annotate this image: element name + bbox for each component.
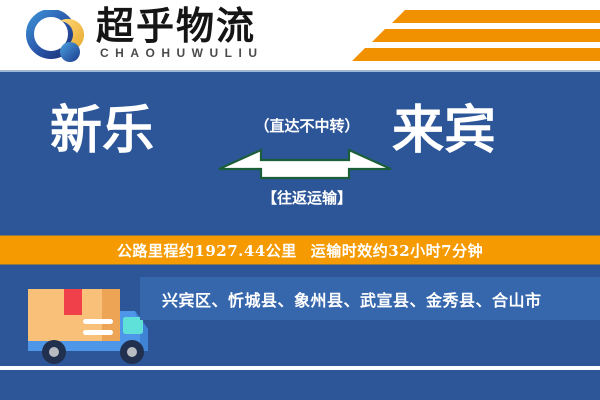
stripe-middle [372,29,600,42]
info-bar-content: 公路里程约1927.44公里运输时效约32小时7分钟 [117,240,483,261]
stripe-top [392,10,600,23]
banner-header: 超乎物流 CHAOHUWULIU [0,0,600,72]
logistics-route-banner: 超乎物流 CHAOHUWULIU 新乐 （直达不中转） 【往返运输】 来宾 公路… [0,0,600,400]
circle-crescent-logo-icon [26,10,84,65]
brand-name-en: CHAOHUWULIU [100,46,264,60]
stripe-bottom [352,48,600,61]
duration-text: 运输时效约32小时7分钟 [311,242,483,260]
route-info-bar: 公路里程约1927.44公里运输时效约32小时7分钟 [0,235,600,265]
coverage-section: 兴宾区、忻城县、象州县、武宣县、金秀县、合山市 [0,265,600,400]
destination-city: 来宾 [392,100,496,162]
distance-text: 公路里程约1927.44公里 [117,242,297,260]
brand-name-cn: 超乎物流 [96,4,256,48]
bidirectional-arrow-icon [215,142,395,184]
coverage-district-panel: 兴宾区、忻城县、象州县、武宣县、金秀县、合山市 [140,277,600,320]
origin-city: 新乐 [50,100,154,162]
delivery-truck-icon [22,273,152,373]
direct-shipping-note: （直达不中转） [247,115,367,136]
route-section: 新乐 （直达不中转） 【往返运输】 来宾 [0,72,600,235]
orange-speed-stripes-icon [350,8,600,66]
coverage-district-list: 兴宾区、忻城县、象州县、武宣县、金秀县、合山市 [140,287,542,311]
roundtrip-shipping-note: 【往返运输】 [240,187,374,208]
road-line [0,366,600,370]
